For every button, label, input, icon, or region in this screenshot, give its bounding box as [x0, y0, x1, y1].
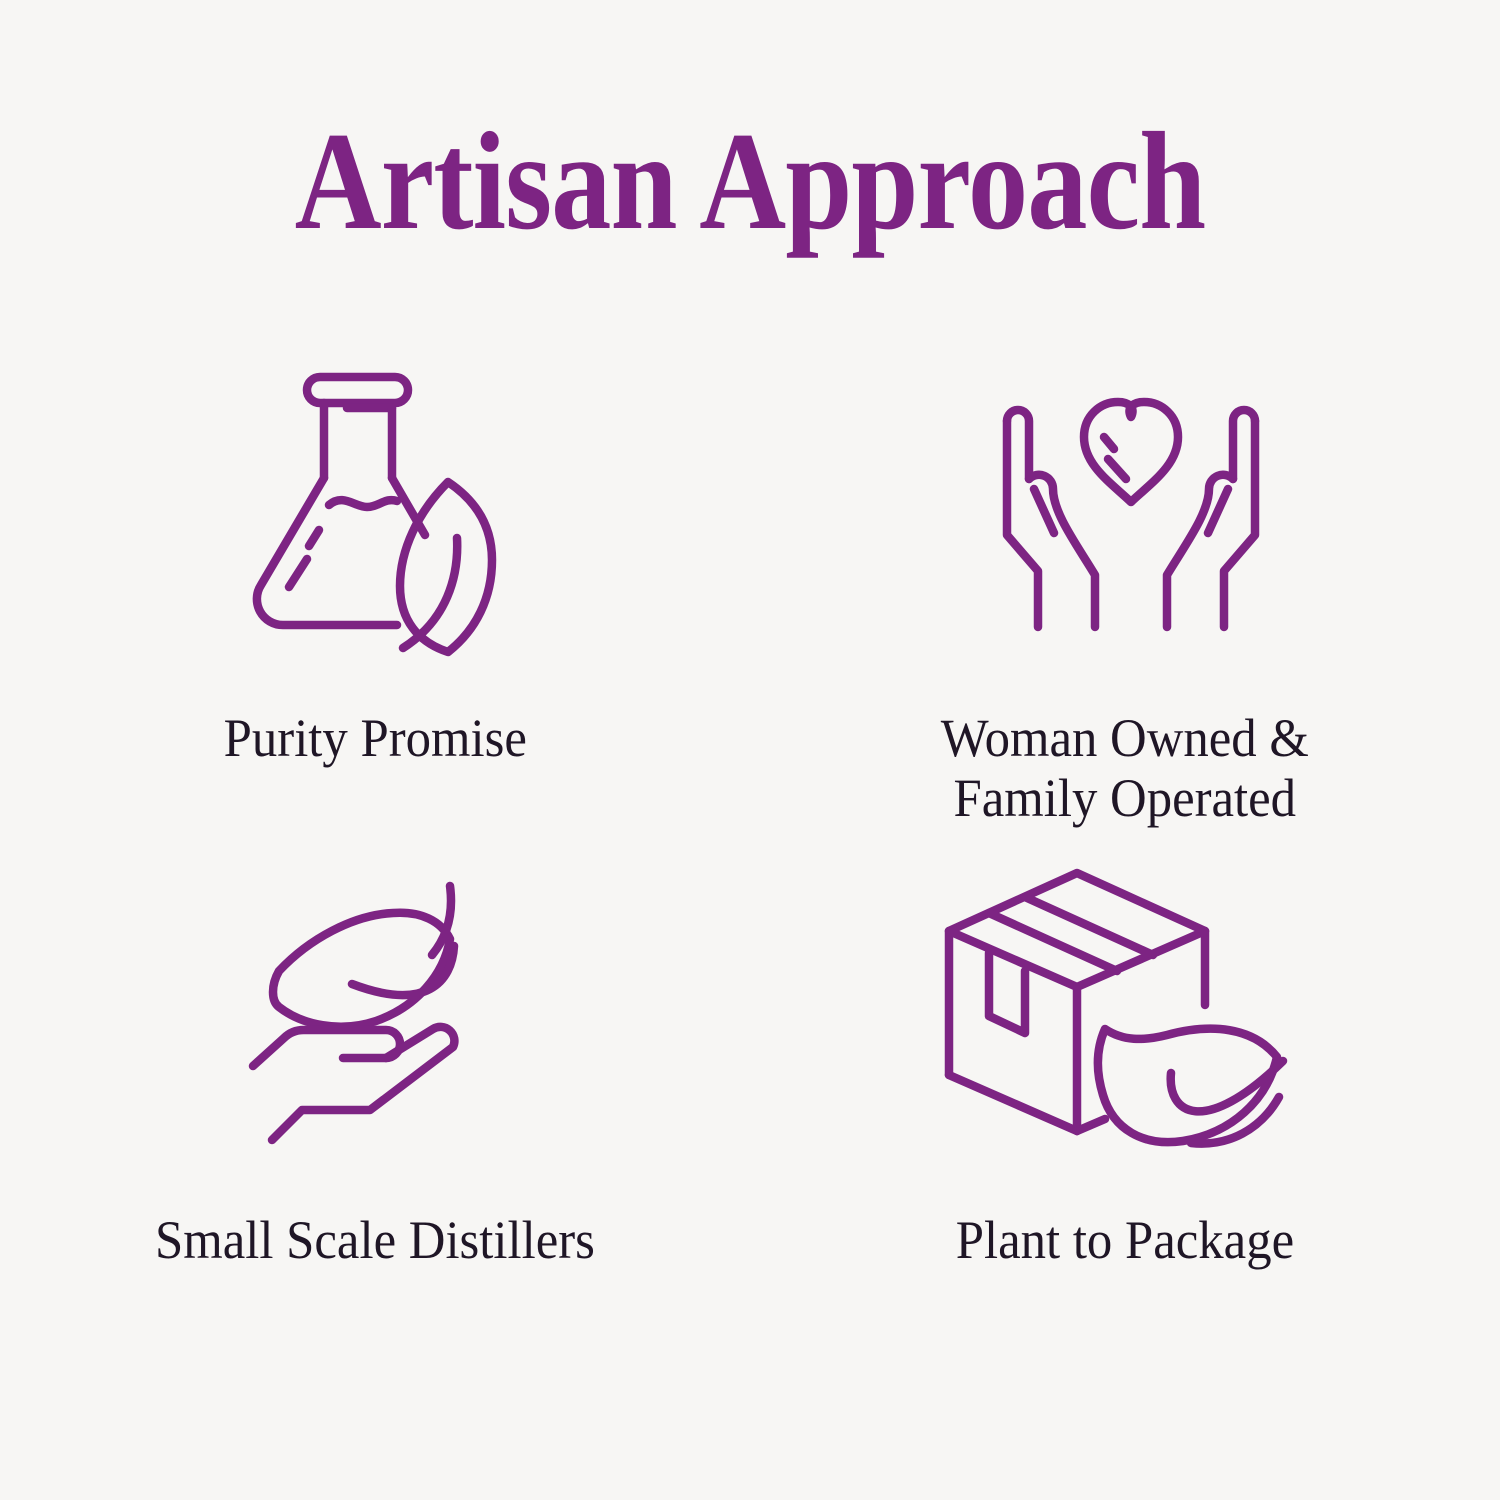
- feature-small-scale-distillers[interactable]: Small Scale Distillers: [0, 860, 750, 1360]
- feature-label: Small Scale Distillers: [155, 1210, 595, 1270]
- feature-icon-wrapper: [245, 360, 505, 660]
- artisan-approach-panel: Artisan Approach: [0, 0, 1500, 1500]
- feature-icon-wrapper: [964, 360, 1286, 660]
- hands-holding-heart-icon: [976, 375, 1286, 645]
- feature-grid: Purity Promise: [0, 360, 1500, 1360]
- hand-holding-leaf-icon: [250, 868, 500, 1143]
- feature-label: Plant to Package: [956, 1210, 1294, 1270]
- box-leaf-icon: [927, 863, 1337, 1148]
- feature-label: Woman Owned & Family Operated: [941, 708, 1309, 829]
- feature-icon-wrapper: [913, 860, 1337, 1150]
- feature-woman-owned[interactable]: Woman Owned & Family Operated: [750, 360, 1500, 860]
- feature-purity-promise[interactable]: Purity Promise: [0, 360, 750, 860]
- flask-leaf-icon: [245, 360, 505, 660]
- feature-label: Purity Promise: [223, 708, 526, 768]
- feature-icon-wrapper: [250, 860, 500, 1150]
- feature-plant-to-package[interactable]: Plant to Package: [750, 860, 1500, 1360]
- page-title: Artisan Approach: [105, 112, 1395, 252]
